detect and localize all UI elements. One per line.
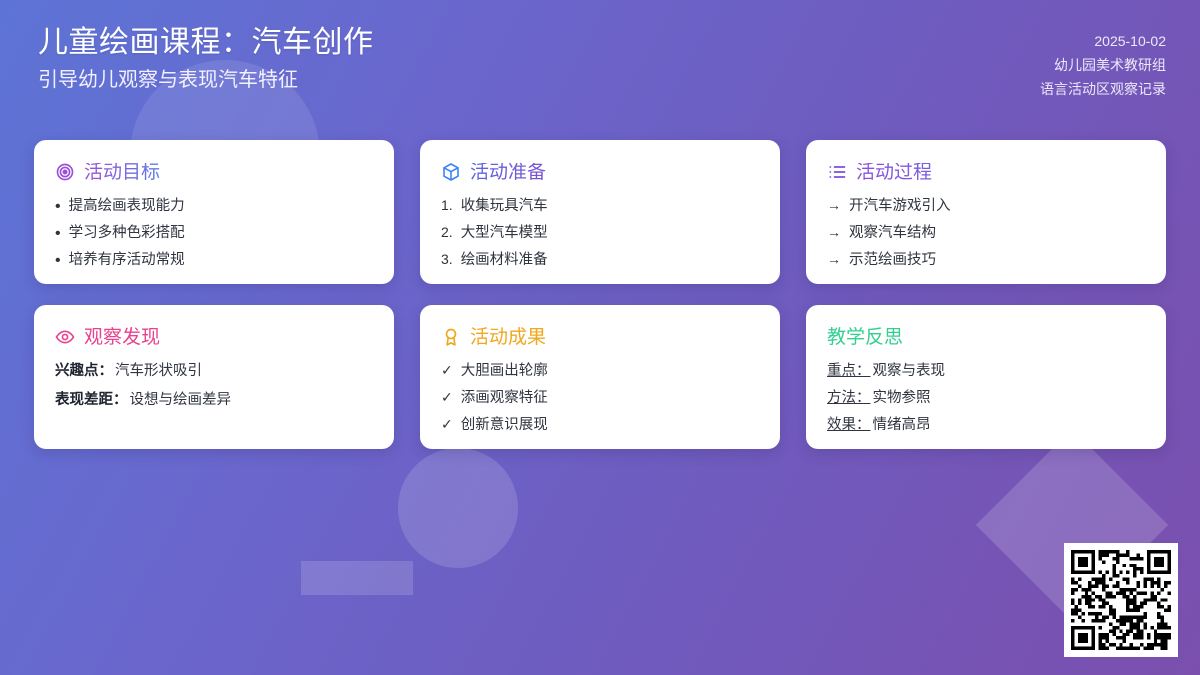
- list-item-text: 创新意识展现: [461, 416, 548, 434]
- list-item: • 提高绘画表现能力: [55, 197, 373, 215]
- card-observation[interactable]: 观察发现 兴趣点： 汽车形状吸引 表现差距： 设想与绘画差异: [34, 305, 394, 449]
- item-label: 方法：: [827, 389, 871, 407]
- card-process-title: 活动过程: [856, 163, 932, 182]
- list-item: 兴趣点： 汽车形状吸引: [55, 362, 373, 380]
- card-reflection-title: 教学反思: [827, 328, 903, 347]
- list-item-text: 大胆画出轮廓: [461, 362, 548, 380]
- list-item-text: 实物参照: [873, 389, 931, 407]
- arrow-marker: →: [827, 224, 841, 242]
- card-observation-body: 兴趣点： 汽车形状吸引 表现差距： 设想与绘画差异: [55, 362, 373, 409]
- header-record-type: 语言活动区观察记录: [1040, 80, 1166, 99]
- header-organization: 幼儿园美术教研组: [1054, 56, 1166, 75]
- list-item-text: 绘画材料准备: [461, 251, 548, 269]
- card-process-body: → 开汽车游戏引入 → 观察汽车结构 → 示范绘画技巧: [827, 197, 1145, 269]
- card-results-body: ✓ 大胆画出轮廓 ✓ 添画观察特征 ✓ 创新意识展现: [441, 362, 759, 434]
- card-results-title: 活动成果: [470, 328, 546, 347]
- card-process-header: 活动过程: [827, 159, 1145, 185]
- card-reflection-header: 教学反思: [827, 324, 1145, 350]
- award-icon: [441, 327, 461, 347]
- decor-rectangle: [301, 561, 413, 595]
- header-left: 儿童绘画课程：汽车创作 引导幼儿观察与表现汽车特征: [38, 26, 374, 92]
- card-results-header: 活动成果: [441, 324, 759, 350]
- header-date: 2025-10-02: [1094, 32, 1166, 51]
- card-results[interactable]: 活动成果 ✓ 大胆画出轮廓 ✓ 添画观察特征 ✓ 创新意识展现: [420, 305, 780, 449]
- target-icon: [55, 162, 75, 182]
- card-observation-title: 观察发现: [84, 328, 160, 347]
- list-item: → 开汽车游戏引入: [827, 197, 1145, 215]
- bullet-marker: •: [55, 253, 61, 269]
- bullet-marker: •: [55, 226, 61, 242]
- list-item: 1. 收集玩具汽车: [441, 197, 759, 215]
- number-marker: 1.: [441, 197, 453, 215]
- list-item-text: 示范绘画技巧: [849, 251, 936, 269]
- qr-code-image: [1071, 550, 1171, 650]
- card-preparation[interactable]: 活动准备 1. 收集玩具汽车 2. 大型汽车模型 3. 绘画材料准备: [420, 140, 780, 284]
- list-item-text: 添画观察特征: [461, 389, 548, 407]
- card-observation-header: 观察发现: [55, 324, 373, 350]
- list-item-text: 观察汽车结构: [849, 224, 936, 242]
- list-item: ✓ 添画观察特征: [441, 389, 759, 407]
- list-item: 重点： 观察与表现: [827, 362, 1145, 380]
- card-goal[interactable]: 活动目标 • 提高绘画表现能力 • 学习多种色彩搭配 • 培养有序活动常规: [34, 140, 394, 284]
- slide-canvas: 儿童绘画课程：汽车创作 引导幼儿观察与表现汽车特征 2025-10-02 幼儿园…: [0, 0, 1200, 675]
- list-item: 2. 大型汽车模型: [441, 224, 759, 242]
- page-title: 儿童绘画课程：汽车创作: [38, 26, 374, 61]
- list-item-text: 提高绘画表现能力: [69, 197, 185, 215]
- list-item-text: 收集玩具汽车: [461, 197, 548, 215]
- list-item: ✓ 大胆画出轮廓: [441, 362, 759, 380]
- list-item-text: 大型汽车模型: [461, 224, 548, 242]
- item-label: 表现差距：: [55, 391, 128, 409]
- item-label: 效果：: [827, 416, 871, 434]
- item-label: 兴趣点：: [55, 362, 113, 380]
- list-item-text: 开汽车游戏引入: [849, 197, 951, 215]
- number-marker: 2.: [441, 224, 453, 242]
- list-item: • 培养有序活动常规: [55, 251, 373, 269]
- card-goal-body: • 提高绘画表现能力 • 学习多种色彩搭配 • 培养有序活动常规: [55, 197, 373, 269]
- check-marker: ✓: [441, 362, 453, 380]
- list-item: 表现差距： 设想与绘画差异: [55, 391, 373, 409]
- list-icon: [827, 162, 847, 182]
- list-item: 3. 绘画材料准备: [441, 251, 759, 269]
- arrow-marker: →: [827, 251, 841, 269]
- eye-icon: [55, 327, 75, 347]
- decor-circle-middle: [398, 448, 518, 568]
- list-item: 方法： 实物参照: [827, 389, 1145, 407]
- bullet-marker: •: [55, 199, 61, 215]
- card-preparation-body: 1. 收集玩具汽车 2. 大型汽车模型 3. 绘画材料准备: [441, 197, 759, 269]
- arrow-marker: →: [827, 197, 841, 215]
- card-goal-header: 活动目标: [55, 159, 373, 185]
- card-process[interactable]: 活动过程 → 开汽车游戏引入 → 观察汽车结构 → 示范绘画技巧: [806, 140, 1166, 284]
- list-item-text: 设想与绘画差异: [130, 391, 232, 409]
- list-item: • 学习多种色彩搭配: [55, 224, 373, 242]
- qr-code[interactable]: [1064, 543, 1178, 657]
- card-goal-title: 活动目标: [84, 163, 160, 182]
- slide-header: 儿童绘画课程：汽车创作 引导幼儿观察与表现汽车特征 2025-10-02 幼儿园…: [0, 0, 1200, 122]
- card-reflection[interactable]: 教学反思 重点： 观察与表现 方法： 实物参照 效果： 情绪高昂: [806, 305, 1166, 449]
- card-preparation-title: 活动准备: [470, 163, 546, 182]
- list-item-text: 培养有序活动常规: [69, 251, 185, 269]
- item-label: 重点：: [827, 362, 871, 380]
- number-marker: 3.: [441, 251, 453, 269]
- list-item-text: 情绪高昂: [873, 416, 931, 434]
- list-item-text: 汽车形状吸引: [115, 362, 202, 380]
- list-item: → 观察汽车结构: [827, 224, 1145, 242]
- list-item-text: 学习多种色彩搭配: [69, 224, 185, 242]
- box-icon: [441, 162, 461, 182]
- list-item-text: 观察与表现: [873, 362, 946, 380]
- card-preparation-header: 活动准备: [441, 159, 759, 185]
- card-reflection-body: 重点： 观察与表现 方法： 实物参照 效果： 情绪高昂: [827, 362, 1145, 434]
- list-item: → 示范绘画技巧: [827, 251, 1145, 269]
- check-marker: ✓: [441, 416, 453, 434]
- card-grid: 活动目标 • 提高绘画表现能力 • 学习多种色彩搭配 • 培养有序活动常规: [34, 140, 1166, 449]
- header-right: 2025-10-02 幼儿园美术教研组 语言活动区观察记录: [1040, 26, 1166, 99]
- list-item: ✓ 创新意识展现: [441, 416, 759, 434]
- check-marker: ✓: [441, 389, 453, 407]
- page-subtitle: 引导幼儿观察与表现汽车特征: [38, 68, 374, 92]
- list-item: 效果： 情绪高昂: [827, 416, 1145, 434]
